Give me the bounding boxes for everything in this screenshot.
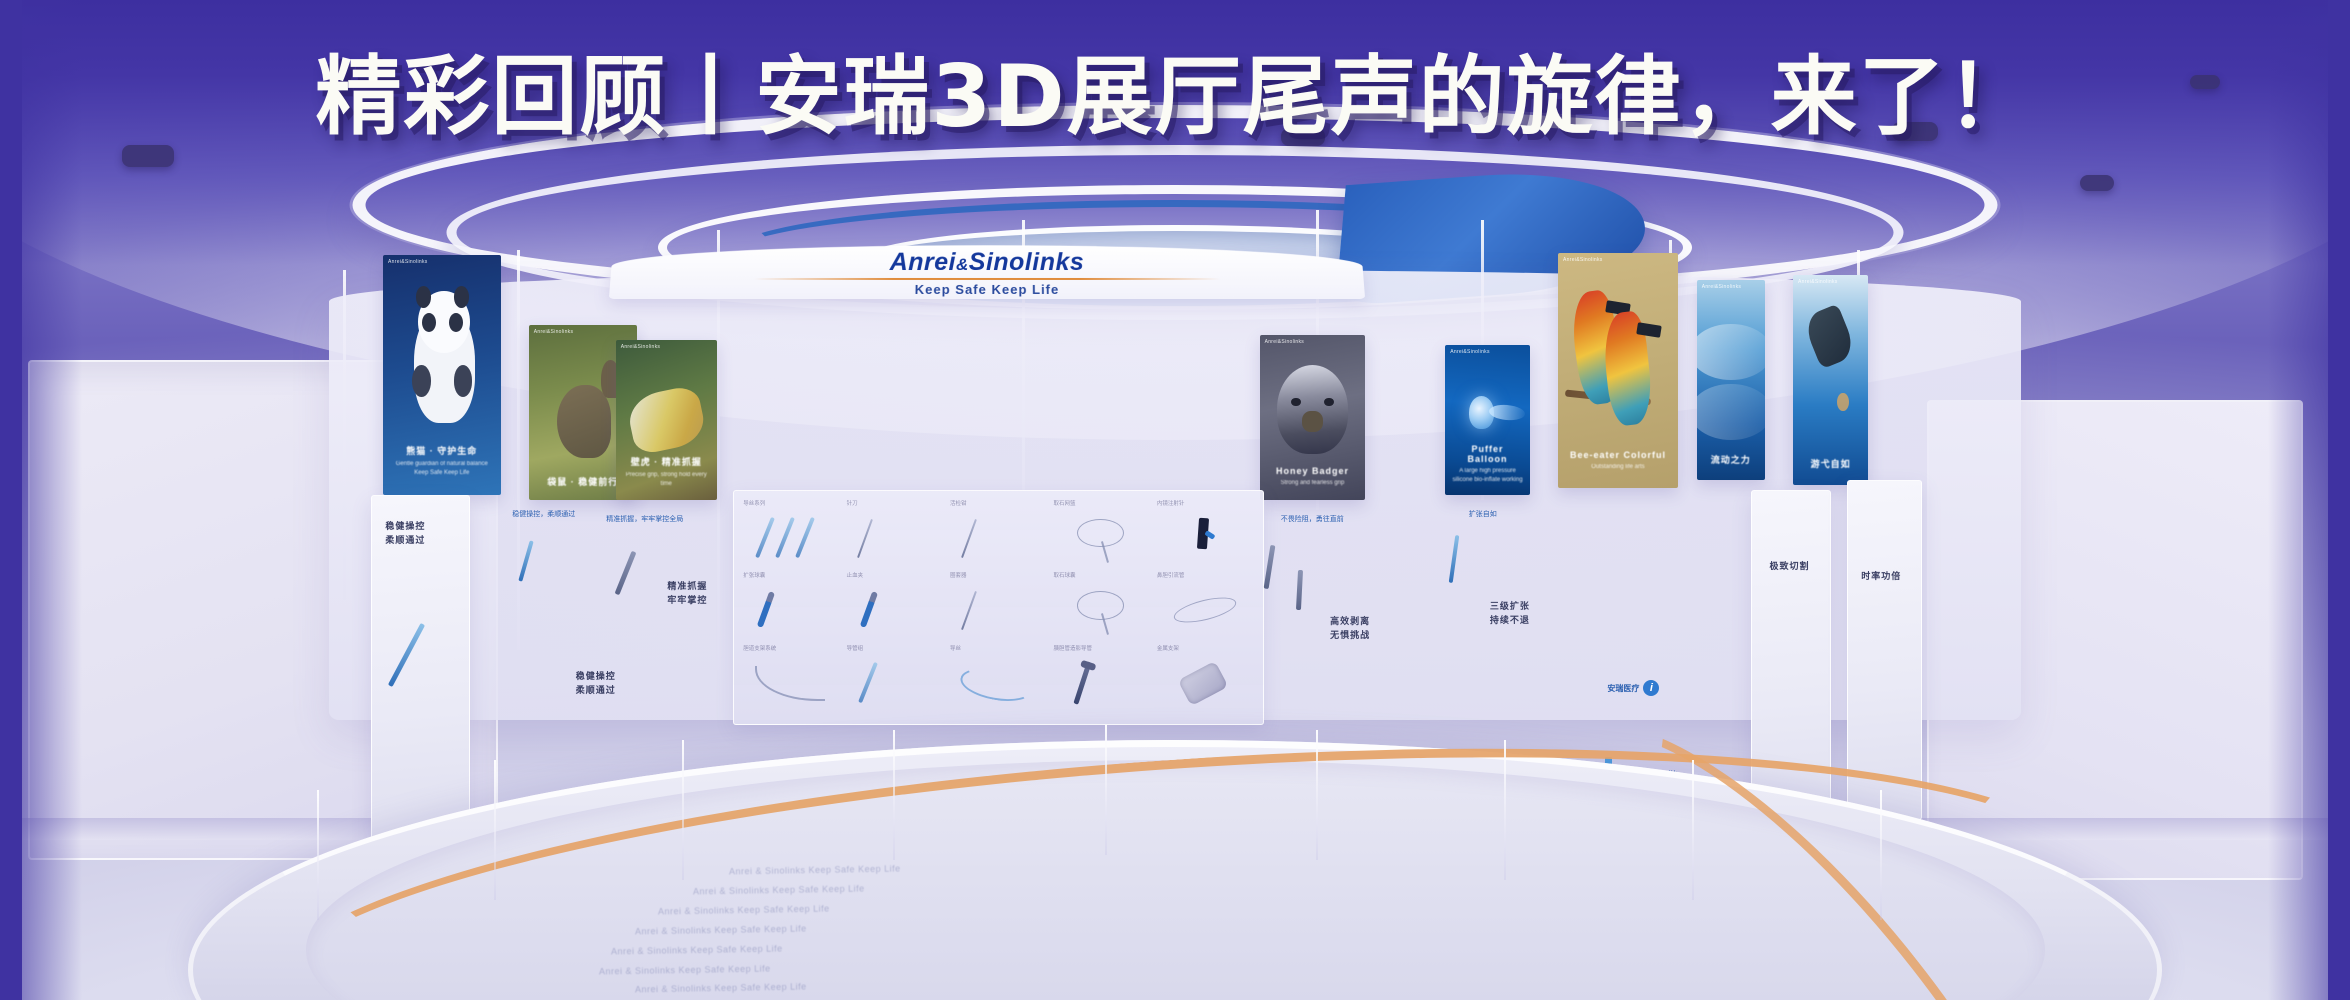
product-cell[interactable]: 圈套器 bbox=[947, 571, 1050, 643]
caption-line-1: 极致切割 bbox=[1770, 560, 1810, 574]
brand-logo-band: Anrei&Sinolinks Keep Safe Keep Life bbox=[609, 245, 1365, 299]
poster-title: 流动之力 bbox=[1701, 453, 1761, 466]
panda-arm-right bbox=[454, 365, 473, 396]
platform-rail-post bbox=[1880, 790, 1882, 920]
panda-eye-right bbox=[449, 313, 463, 332]
product-cell[interactable]: 胰胆管造影导管 bbox=[1050, 644, 1153, 716]
product-cell[interactable]: 止血夹 bbox=[844, 571, 947, 643]
caption-right-1: 极致切割 bbox=[1770, 560, 1810, 574]
poster-subtitle: Precise grip, strong hold every time bbox=[622, 471, 711, 489]
product-image bbox=[746, 584, 837, 639]
panda-ear-left bbox=[416, 286, 431, 308]
poster-caption: 游弋自如 bbox=[1798, 457, 1864, 470]
product-image bbox=[1056, 512, 1147, 567]
brand-name-anrei: Anrei bbox=[890, 248, 957, 276]
caption-title: 不畏险阻，勇往直前 bbox=[1281, 515, 1344, 526]
poster-title: Puffer Balloon bbox=[1450, 444, 1524, 464]
badge-label: 安瑞医疗 bbox=[1607, 683, 1639, 694]
caption-line-2: 时率功倍 bbox=[1861, 570, 1901, 584]
product-label: 胆道支架系统 bbox=[743, 644, 776, 652]
product-label: 内镜注射针 bbox=[1157, 499, 1185, 507]
product-cell[interactable]: 扩张球囊 bbox=[740, 571, 843, 643]
caption-title: 扩张自如 bbox=[1469, 510, 1497, 521]
poster-title: 壁虎 · 精准抓握 bbox=[622, 455, 711, 468]
badger-snout bbox=[1302, 411, 1323, 432]
caption-right-2: 时率功倍 bbox=[1861, 570, 1901, 584]
kangaroo-silhouette bbox=[557, 385, 611, 459]
caption-kangaroo-lines: 稳健操控 柔顺通过 bbox=[576, 670, 616, 697]
caption-badger-lines: 高效剥离 无惧挑战 bbox=[1330, 615, 1370, 642]
product-cell[interactable]: 鼻胆引流管 bbox=[1154, 571, 1257, 643]
brand-tagline: Keep Safe Keep Life bbox=[915, 281, 1060, 296]
poster-caption: 壁虎 · 精准抓握 Precise grip, strong hold ever… bbox=[622, 455, 711, 489]
product-image bbox=[1160, 657, 1251, 712]
panda-ear-right bbox=[454, 286, 469, 308]
logo-underline bbox=[754, 277, 1221, 279]
product-image bbox=[953, 657, 1044, 712]
brand-logo-text: Anrei&Sinolinks bbox=[889, 248, 1084, 277]
sun-glow bbox=[1837, 393, 1849, 412]
poster-subtitle: A large high pressure silicone bio-infla… bbox=[1450, 467, 1524, 485]
product-label: 扩张球囊 bbox=[743, 571, 765, 579]
poster-brand-tag: Anrei&Sinolinks bbox=[1702, 284, 1742, 290]
product-label: 金属支架 bbox=[1157, 644, 1179, 652]
product-label: 活检钳 bbox=[950, 499, 967, 507]
ceiling-spotlight bbox=[2080, 175, 2114, 191]
product-image bbox=[850, 512, 941, 567]
platform-rail-post bbox=[1692, 760, 1694, 900]
product-label: 取石球囊 bbox=[1053, 571, 1075, 579]
product-image bbox=[850, 657, 941, 712]
product-cell[interactable]: 金属支架 bbox=[1154, 644, 1257, 716]
stand-board-right-2 bbox=[1847, 480, 1922, 820]
badger-eye-left bbox=[1291, 398, 1301, 406]
poster-brand-tag: Anrei&Sinolinks bbox=[1563, 257, 1603, 263]
poster-brand-tag: Anrei&Sinolinks bbox=[1450, 349, 1490, 355]
caption-title: 稳健操控，柔顺通过 bbox=[512, 510, 575, 521]
info-badge[interactable]: 安瑞医疗 i bbox=[1607, 680, 1659, 696]
badger-head bbox=[1277, 365, 1349, 454]
brand-name-sinolinks: Sinolinks bbox=[969, 248, 1085, 276]
caption-title: 精准抓握，牢牢掌控全局 bbox=[606, 515, 683, 526]
showroom-banner: Anrei&Sinolinks Keep Safe Keep Life Anre… bbox=[0, 0, 2350, 1000]
poster-title: 游弋自如 bbox=[1798, 457, 1864, 470]
product-image bbox=[1056, 657, 1147, 712]
poster-brand-tag: Anrei&Sinolinks bbox=[1798, 279, 1838, 285]
poster-brand-tag: Anrei&Sinolinks bbox=[534, 329, 574, 335]
platform-rail-post bbox=[494, 760, 496, 900]
caption-line-1: 稳健操控 bbox=[385, 520, 425, 534]
poster-subtitle: Gentle guardian of natural balance Keep … bbox=[390, 460, 493, 478]
caption-line-1: 高效剥离 bbox=[1330, 615, 1370, 629]
poster-panda[interactable]: Anrei&Sinolinks 熊猫 · 守护生命 Gentle guardia… bbox=[383, 255, 501, 495]
caption-line-2: 柔顺通过 bbox=[385, 534, 425, 548]
poster-title: Honey Badger bbox=[1266, 466, 1359, 476]
product-image bbox=[1160, 512, 1251, 567]
product-image bbox=[953, 512, 1044, 567]
poster-caption: Honey Badger Strong and fearless grip bbox=[1266, 466, 1359, 488]
poster-brand-tag: Anrei&Sinolinks bbox=[621, 344, 661, 350]
product-cell[interactable]: 导管组 bbox=[844, 644, 947, 716]
caption-line-2: 持续不退 bbox=[1490, 614, 1530, 628]
product-label: 导管组 bbox=[847, 644, 864, 652]
page-title: 精彩回顾丨安瑞3D展厅尾声的旋律，来了！ bbox=[0, 26, 2350, 151]
platform-rail-post bbox=[1316, 730, 1318, 860]
product-label: 导丝系列 bbox=[743, 499, 765, 507]
product-image bbox=[953, 584, 1044, 639]
wave-band-1 bbox=[1697, 324, 1765, 380]
poster-caption: Puffer Balloon A large high pressure sil… bbox=[1450, 444, 1524, 485]
product-image bbox=[746, 512, 837, 567]
product-cell[interactable]: 导丝 bbox=[947, 644, 1050, 716]
caption-gecko: 精准抓握，牢牢掌控全局 bbox=[606, 515, 683, 526]
caption-kangaroo: 稳健操控，柔顺通过 bbox=[512, 510, 575, 521]
platform-rail-post bbox=[893, 730, 895, 860]
caption-line-2: 牢牢掌控 bbox=[667, 594, 707, 608]
product-image bbox=[746, 657, 837, 712]
platform-rail-post bbox=[1105, 725, 1107, 855]
caption-line-1: 精准抓握 bbox=[667, 580, 707, 594]
gecko-silhouette bbox=[625, 384, 708, 455]
caption-line-2: 柔顺通过 bbox=[576, 684, 616, 698]
caption-blue-lines: 三级扩张 持续不退 bbox=[1490, 600, 1530, 627]
product-cell[interactable]: 内镜注射针 bbox=[1154, 499, 1257, 571]
brand-ampersand: & bbox=[956, 255, 969, 274]
product-image bbox=[850, 584, 941, 639]
product-label: 取石网篮 bbox=[1053, 499, 1075, 507]
poster-title: 熊猫 · 守护生命 bbox=[390, 444, 493, 457]
product-cell[interactable]: 取石网篮 bbox=[1050, 499, 1153, 571]
caption-gecko-lines: 精准抓握 牢牢掌控 bbox=[667, 580, 707, 607]
platform-rail-post bbox=[682, 740, 684, 880]
poster-caption: 流动之力 bbox=[1701, 453, 1761, 466]
product-label: 圈套器 bbox=[950, 571, 967, 579]
product-image bbox=[1056, 584, 1147, 639]
poster-wave[interactable]: Anrei&Sinolinks 流动之力 bbox=[1697, 280, 1765, 480]
platform-rail-post bbox=[1504, 740, 1506, 880]
water-stream bbox=[1489, 403, 1526, 421]
poster-caption: 熊猫 · 守护生命 Gentle guardian of natural bal… bbox=[390, 444, 493, 478]
poster-subtitle: Outstanding life arts bbox=[1565, 463, 1670, 472]
poster-bee-eater[interactable]: Anrei&Sinolinks Bee-eater Colorful Outst… bbox=[1558, 253, 1678, 488]
stand-board-left bbox=[371, 495, 470, 855]
product-cell[interactable]: 活检钳 bbox=[947, 499, 1050, 571]
caption-line-2: 无惧挑战 bbox=[1330, 629, 1370, 643]
product-display-panel[interactable]: 导丝系列 针刀 活检钳 取石网篮 内镜注射针 扩张球囊 止血夹 圈套器 取石球囊… bbox=[733, 490, 1264, 725]
panda-arm-left bbox=[412, 365, 431, 396]
poster-title: Bee-eater Colorful bbox=[1565, 450, 1670, 460]
caption-blue: 扩张自如 bbox=[1469, 510, 1497, 521]
product-label: 鼻胆引流管 bbox=[1157, 571, 1185, 579]
poster-brand-tag: Anrei&Sinolinks bbox=[1265, 339, 1305, 345]
poster-caption: Bee-eater Colorful Outstanding life arts bbox=[1565, 450, 1670, 472]
product-cell[interactable]: 取石球囊 bbox=[1050, 571, 1153, 643]
product-label: 胰胆管造影导管 bbox=[1053, 644, 1092, 652]
poster-brand-tag: Anrei&Sinolinks bbox=[388, 259, 428, 265]
caption-line-1: 稳健操控 bbox=[576, 670, 616, 684]
platform-rail-post bbox=[317, 790, 319, 920]
poster-gecko[interactable]: Anrei&Sinolinks 壁虎 · 精准抓握 Precise grip, … bbox=[616, 340, 717, 500]
fish-silhouette bbox=[1801, 303, 1858, 368]
caption-badger: 不畏险阻，勇往直前 bbox=[1281, 515, 1344, 526]
product-label: 导丝 bbox=[950, 644, 961, 652]
caption-line-1: 三级扩张 bbox=[1490, 600, 1530, 614]
badger-eye-right bbox=[1324, 398, 1334, 406]
wave-band-2 bbox=[1697, 384, 1765, 440]
poster-puffer-balloon[interactable]: Anrei&Sinolinks Puffer Balloon A large h… bbox=[1445, 345, 1530, 495]
product-cell[interactable]: 针刀 bbox=[844, 499, 947, 571]
caption-panda-lines: 稳健操控 柔顺通过 bbox=[385, 520, 425, 547]
product-label: 止血夹 bbox=[847, 571, 864, 579]
panda-eye-left bbox=[422, 313, 436, 332]
product-cell[interactable]: 导丝系列 bbox=[740, 499, 843, 571]
poster-subtitle: Strong and fearless grip bbox=[1266, 479, 1359, 488]
product-label: 针刀 bbox=[847, 499, 858, 507]
poster-fish[interactable]: Anrei&Sinolinks 游弋自如 bbox=[1793, 275, 1868, 485]
info-icon: i bbox=[1643, 680, 1659, 696]
poster-honey-badger[interactable]: Anrei&Sinolinks Honey Badger Strong and … bbox=[1260, 335, 1366, 500]
product-cell[interactable]: 胆道支架系统 bbox=[740, 644, 843, 716]
product-image bbox=[1160, 584, 1251, 639]
